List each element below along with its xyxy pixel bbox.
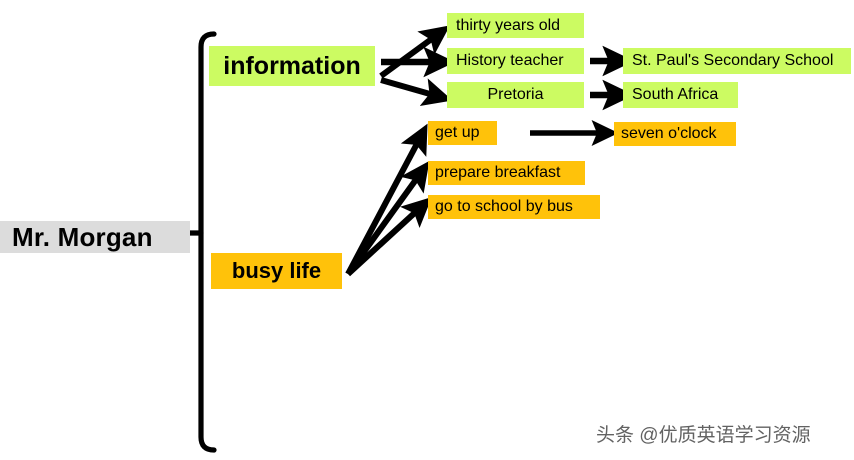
connector-busylife-to-school-bus (348, 208, 420, 274)
node-leaf-go-to-school-by-bus[interactable]: go to school by bus (428, 195, 600, 219)
node-leaf-south-africa-label: South Africa (632, 87, 718, 103)
node-leaf-thirty-years-old-label: thirty years old (456, 18, 560, 34)
node-leaf-st-pauls-secondary-school[interactable]: St. Paul's Secondary School (623, 48, 851, 74)
node-leaf-history-teacher[interactable]: History teacher (447, 48, 584, 74)
connector-information-to-city (381, 80, 437, 96)
node-leaf-thirty-years-old[interactable]: thirty years old (447, 13, 584, 38)
node-leaf-pretoria-label: Pretoria (487, 87, 543, 103)
node-leaf-get-up[interactable]: get up (428, 121, 497, 145)
connector-busylife-to-getup (348, 138, 420, 274)
node-leaf-history-teacher-label: History teacher (456, 53, 564, 69)
node-root-label: Mr. Morgan (12, 224, 153, 250)
node-leaf-st-pauls-secondary-school-label: St. Paul's Secondary School (632, 53, 833, 69)
node-leaf-prepare-breakfast-label: prepare breakfast (435, 165, 560, 181)
watermark-label: 头条 @优质英语学习资源 (596, 425, 811, 446)
node-leaf-get-up-label: get up (435, 125, 479, 141)
node-branch-busy-life-label: busy life (232, 260, 321, 282)
connector-information-to-age (381, 35, 437, 76)
node-leaf-seven-oclock[interactable]: seven o'clock (614, 122, 736, 146)
node-leaf-pretoria[interactable]: Pretoria (447, 82, 584, 108)
node-branch-information[interactable]: information (209, 46, 375, 86)
node-leaf-prepare-breakfast[interactable]: prepare breakfast (428, 161, 585, 185)
connector-busylife-to-breakfast (348, 174, 420, 274)
node-leaf-seven-oclock-label: seven o'clock (621, 126, 717, 142)
node-leaf-go-to-school-by-bus-label: go to school by bus (435, 199, 573, 215)
node-branch-information-label: information (223, 54, 361, 79)
diagram-canvas: Mr. Morgan information thirty years old … (0, 0, 854, 460)
node-branch-busy-life[interactable]: busy life (211, 253, 342, 289)
watermark-text: 头条 @优质英语学习资源 (596, 420, 811, 447)
node-root-mr-morgan[interactable]: Mr. Morgan (0, 221, 190, 253)
node-leaf-south-africa[interactable]: South Africa (623, 82, 738, 108)
